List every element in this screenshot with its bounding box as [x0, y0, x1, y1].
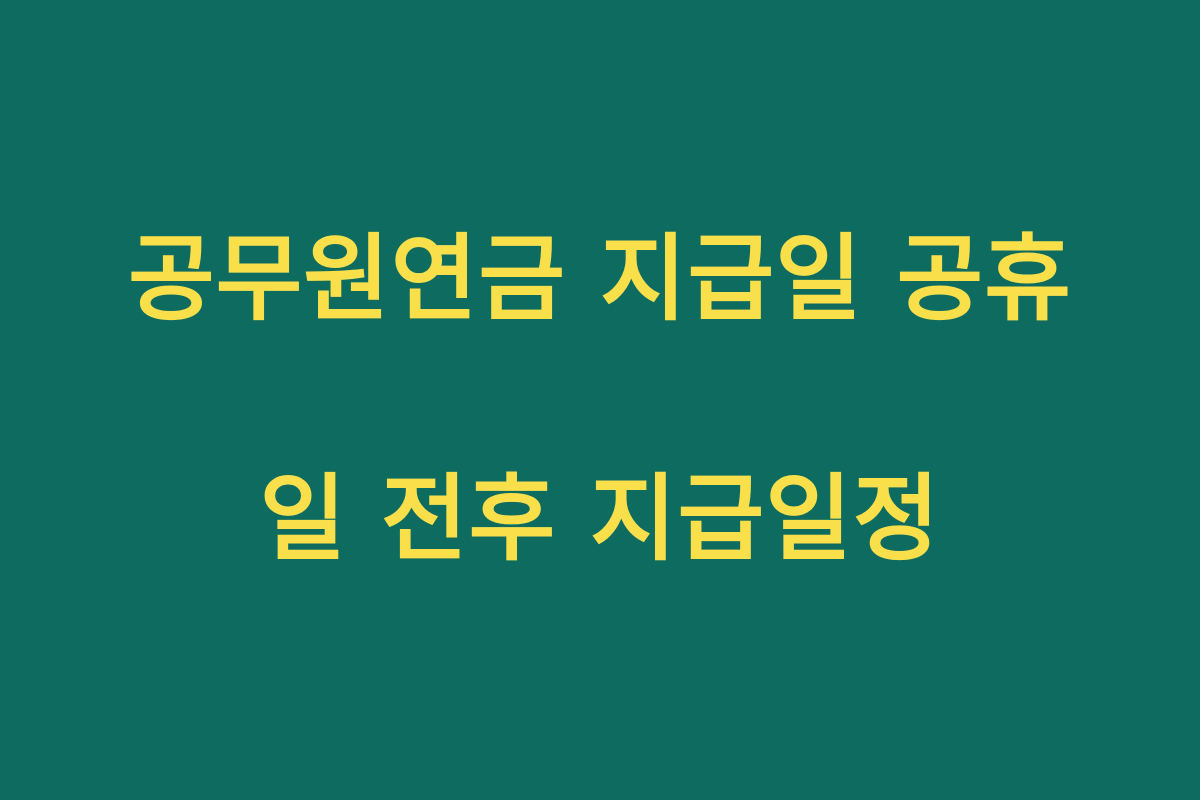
- page-title-line-2: 일 전후 지급일정: [70, 460, 1130, 580]
- page-title: 공무원연금 지급일 공휴 일 전후 지급일정: [70, 99, 1130, 701]
- title-banner: 공무원연금 지급일 공휴 일 전후 지급일정: [0, 0, 1200, 800]
- page-title-line-1: 공무원연금 지급일 공휴: [70, 220, 1130, 340]
